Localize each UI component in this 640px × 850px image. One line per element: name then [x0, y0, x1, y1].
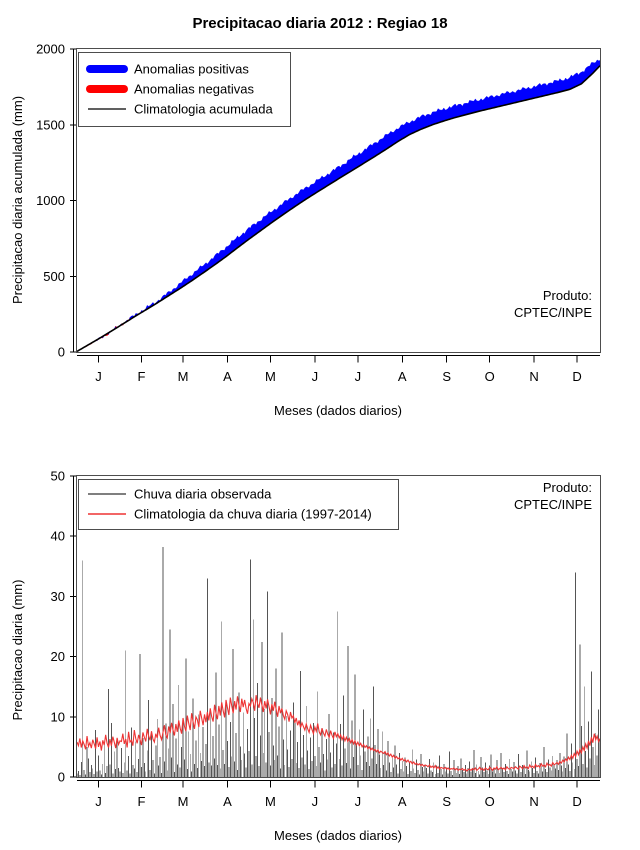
svg-text:Precipitacao diaria acumulada: Precipitacao diaria acumulada (mm) [10, 96, 25, 304]
svg-text:Precipitacao diaria (mm): Precipitacao diaria (mm) [10, 580, 25, 721]
legend-accumulated[interactable]: Anomalias positivasAnomalias negativasCl… [79, 53, 291, 127]
y-tick-label: 40 [51, 529, 65, 544]
x-tick-label: M [178, 369, 189, 384]
x-axis-ticks-daily: JFMAMJJASOND [77, 781, 600, 810]
legend-label: Anomalias negativas [134, 82, 254, 97]
x-tick-label: F [138, 369, 146, 384]
daily-precipitation-chart: Precipitacao diaria (mm) 01020304050 JFM… [0, 425, 640, 850]
x-tick-label: J [312, 794, 319, 809]
y-tick-label: 10 [51, 709, 65, 724]
x-axis-label-accumulated: Meses (dados diarios) [274, 403, 402, 418]
y-tick-label: 30 [51, 589, 65, 604]
x-tick-label: M [265, 369, 276, 384]
x-tick-label: N [529, 369, 538, 384]
producto-annotation-accumulated: Produto:CPTEC/INPE [514, 288, 592, 320]
x-tick-label: M [265, 794, 276, 809]
y-axis-ticks-accumulated: 0500100015002000 [36, 42, 76, 360]
chart-page: Precipitacao diaria 2012 : Regiao 18 Pre… [0, 0, 640, 850]
accumulated-precipitation-chart: Precipitacao diaria 2012 : Regiao 18 Pre… [0, 0, 640, 425]
x-axis-label-daily: Meses (dados diarios) [274, 828, 402, 843]
producto-line: Produto: [543, 288, 592, 303]
x-tick-label: O [485, 794, 495, 809]
y-tick-label: 1500 [36, 117, 65, 132]
x-tick-label: J [312, 369, 319, 384]
legend-label: Climatologia da chuva diaria (1997-2014) [134, 507, 372, 522]
plot-area-daily [77, 547, 600, 777]
x-axis-ticks-accumulated: JFMAMJJASOND [77, 356, 600, 385]
y-tick-label: 50 [51, 469, 65, 484]
x-tick-label: J [355, 794, 362, 809]
producto-line: CPTEC/INPE [514, 497, 592, 512]
legend-label: Climatologia acumulada [134, 102, 274, 117]
y-axis-ticks-daily: 01020304050 [51, 469, 77, 785]
y-axis-label-accumulated: Precipitacao diaria acumulada (mm) [10, 96, 25, 304]
producto-line: Produto: [543, 480, 592, 495]
y-tick-label: 1000 [36, 193, 65, 208]
x-tick-label: A [398, 794, 407, 809]
y-tick-label: 500 [43, 269, 65, 284]
legend-label: Chuva diaria observada [134, 487, 272, 502]
y-axis-label-daily: Precipitacao diaria (mm) [10, 580, 25, 721]
x-tick-label: A [223, 794, 232, 809]
x-tick-label: M [178, 794, 189, 809]
x-tick-label: J [95, 369, 102, 384]
x-tick-label: D [572, 369, 581, 384]
y-tick-label: 20 [51, 649, 65, 664]
legend-daily[interactable]: Chuva diaria observadaClimatologia da ch… [79, 480, 399, 530]
x-tick-label: J [355, 369, 362, 384]
x-tick-label: O [485, 369, 495, 384]
producto-annotation-daily: Produto:CPTEC/INPE [514, 480, 592, 512]
y-tick-label: 0 [58, 345, 65, 360]
page-title: Precipitacao diaria 2012 : Regiao 18 [192, 15, 447, 32]
x-tick-label: F [138, 794, 146, 809]
x-tick-label: J [95, 794, 102, 809]
x-tick-label: A [398, 369, 407, 384]
y-tick-label: 0 [58, 770, 65, 785]
x-tick-label: S [442, 794, 451, 809]
x-tick-label: N [529, 794, 538, 809]
legend-label: Anomalias positivas [134, 62, 249, 77]
x-tick-label: S [442, 369, 451, 384]
y-tick-label: 2000 [36, 42, 65, 57]
x-tick-label: A [223, 369, 232, 384]
x-tick-label: D [572, 794, 581, 809]
producto-line: CPTEC/INPE [514, 305, 592, 320]
